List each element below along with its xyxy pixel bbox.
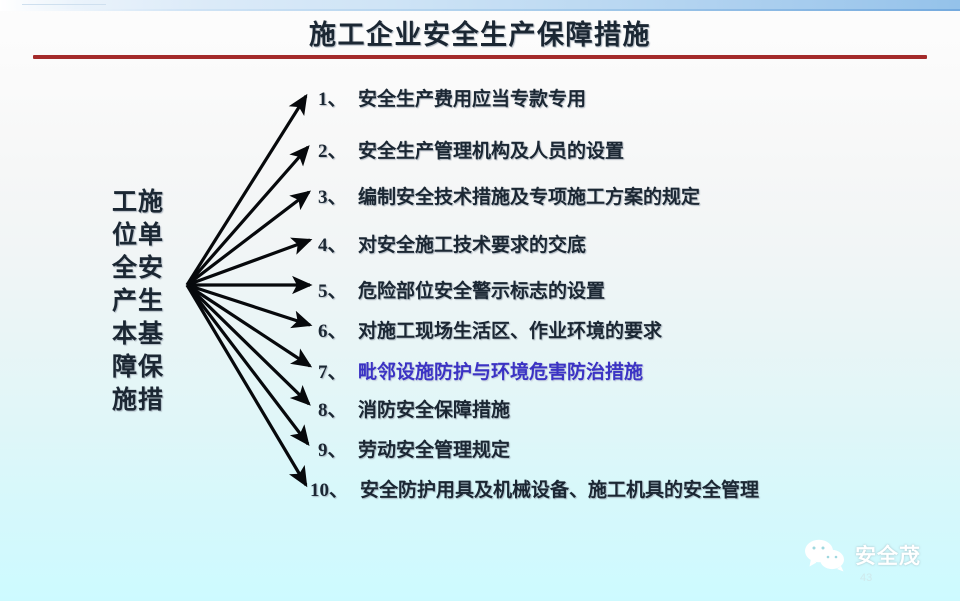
root-col-r-c3: 生 bbox=[138, 285, 163, 318]
list-item-number: 2、 bbox=[318, 136, 358, 163]
brand-name: 安全茂 bbox=[855, 540, 921, 570]
arrow-to-item-2 bbox=[187, 147, 308, 285]
root-col-l-c3: 产 bbox=[112, 285, 137, 318]
list-item[interactable]: 9、 劳动安全管理规定 bbox=[318, 435, 510, 462]
root-col-r-c6: 措 bbox=[138, 384, 163, 417]
list-item-number: 5、 bbox=[318, 276, 358, 303]
list-item-label: 对安全施工技术要求的交底 bbox=[358, 230, 586, 257]
list-item[interactable]: 2、 安全生产管理机构及人员的设置 bbox=[318, 136, 624, 163]
list-item[interactable]: 3、 编制安全技术措施及专项施工方案的规定 bbox=[318, 182, 700, 209]
list-item[interactable]: 7、 毗邻设施防护与环境危害防治措施 bbox=[318, 357, 643, 384]
arrow-to-item-4 bbox=[187, 240, 310, 285]
list-item-label: 对施工现场生活区、作业环境的要求 bbox=[358, 316, 662, 343]
page-number: 43 bbox=[860, 572, 872, 584]
wechat-icon bbox=[802, 538, 848, 572]
list-item-number: 9、 bbox=[318, 435, 358, 462]
list-item-label: 危险部位安全警示标志的设置 bbox=[358, 276, 605, 303]
root-col-l-c1: 位 bbox=[112, 219, 137, 252]
list-item-number: 3、 bbox=[318, 182, 358, 209]
top-bar-hairline bbox=[22, 4, 106, 5]
root-col-l-c4: 本 bbox=[112, 318, 137, 351]
root-label-column-right: 施 单 安 生 基 保 措 bbox=[138, 186, 163, 417]
arrow-to-item-3 bbox=[187, 192, 309, 285]
root-label-column-left: 工 位 全 产 本 障 施 bbox=[112, 186, 137, 417]
list-item-label: 消防安全保障措施 bbox=[358, 395, 510, 422]
list-item-label: 劳动安全管理规定 bbox=[358, 435, 510, 462]
list-item-number: 1、 bbox=[318, 84, 358, 111]
top-bar-accent-line bbox=[0, 9, 960, 11]
arrow-to-item-10 bbox=[187, 285, 306, 485]
arrow-to-item-1 bbox=[187, 96, 306, 285]
list-item-label: 毗邻设施防护与环境危害防治措施 bbox=[358, 357, 643, 384]
diagram-root-label: 施 单 安 生 基 保 措 工 位 全 产 本 障 施 bbox=[112, 186, 163, 417]
root-col-r-c1: 单 bbox=[138, 219, 163, 252]
list-item[interactable]: 1、 安全生产费用应当专款专用 bbox=[318, 84, 586, 111]
root-col-l-c2: 全 bbox=[112, 252, 137, 285]
root-col-r-c4: 基 bbox=[138, 318, 163, 351]
title-underline-rule bbox=[33, 55, 927, 59]
arrow-to-item-6 bbox=[187, 285, 310, 325]
list-item[interactable]: 4、 对安全施工技术要求的交底 bbox=[318, 230, 586, 257]
list-item-label: 编制安全技术措施及专项施工方案的规定 bbox=[358, 182, 700, 209]
arrow-to-item-9 bbox=[187, 285, 308, 444]
list-item-number: 8、 bbox=[318, 395, 358, 422]
list-item[interactable]: 8、 消防安全保障措施 bbox=[318, 395, 510, 422]
root-col-l-c5: 障 bbox=[112, 351, 137, 384]
arrow-to-item-8 bbox=[187, 285, 309, 404]
list-item-label: 安全生产管理机构及人员的设置 bbox=[358, 136, 624, 163]
list-item-label: 安全防护用具及机械设备、施工机具的安全管理 bbox=[360, 475, 759, 502]
list-item[interactable]: 5、 危险部位安全警示标志的设置 bbox=[318, 276, 605, 303]
list-item[interactable]: 10、 安全防护用具及机械设备、施工机具的安全管理 bbox=[310, 475, 759, 502]
list-item-label: 安全生产费用应当专款专用 bbox=[358, 84, 586, 111]
root-col-r-c0: 施 bbox=[138, 186, 163, 219]
list-item-number: 7、 bbox=[318, 357, 358, 384]
footer-brand: 安全茂 bbox=[802, 538, 921, 572]
root-col-r-c5: 保 bbox=[138, 351, 163, 384]
root-col-l-c6: 施 bbox=[112, 384, 137, 417]
page-title: 施工企业安全生产保障措施 bbox=[0, 13, 960, 52]
list-item-number: 6、 bbox=[318, 316, 358, 343]
list-item-number: 10、 bbox=[310, 475, 360, 502]
root-col-r-c2: 安 bbox=[138, 252, 163, 285]
arrow-to-item-7 bbox=[187, 285, 310, 366]
list-item-number: 4、 bbox=[318, 230, 358, 257]
list-item[interactable]: 6、 对施工现场生活区、作业环境的要求 bbox=[318, 316, 662, 343]
slide-canvas: 施工企业安全生产保障措施 施 单 安 生 基 保 措 工 位 全 产 本 障 施 bbox=[0, 0, 960, 601]
root-col-l-c0: 工 bbox=[112, 186, 137, 219]
